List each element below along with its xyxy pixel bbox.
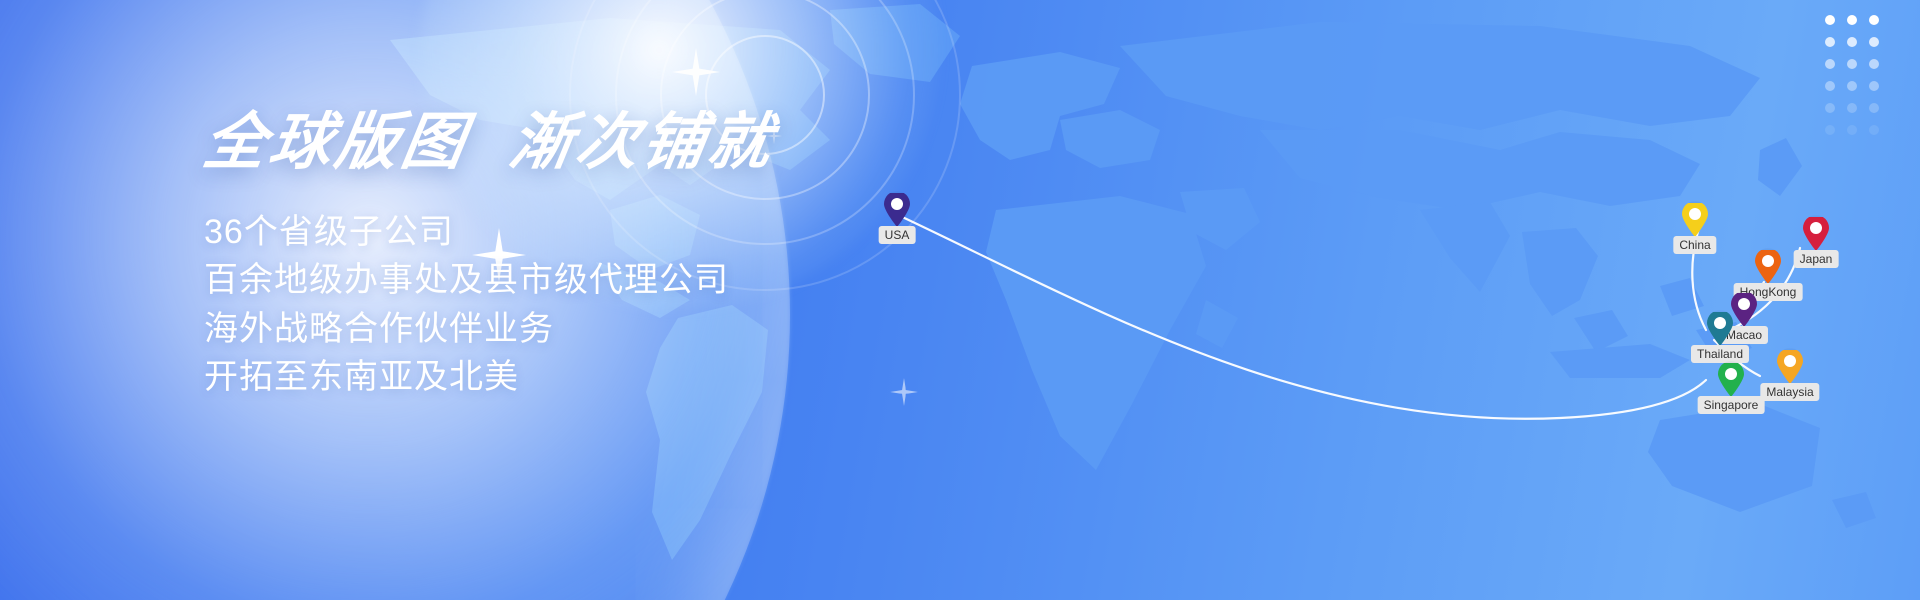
pin-label: USA	[879, 226, 916, 244]
pin-center-dot	[1725, 368, 1737, 380]
pin-center-dot	[891, 198, 903, 210]
map-pin-hongkong[interactable]: HongKong	[1755, 250, 1781, 286]
page-title: 全球版图 渐次铺就	[199, 112, 779, 174]
copy-block: 全球版图 渐次铺就 36个省级子公司 百余地级办事处及县市级代理公司 海外战略合…	[204, 112, 774, 401]
map-pin-singapore[interactable]: Singapore	[1718, 363, 1744, 399]
pin-center-dot	[1689, 208, 1701, 220]
pin-label: Malaysia	[1760, 383, 1819, 401]
map-pin-thailand[interactable]: Thailand	[1707, 312, 1733, 348]
subtitle-line: 海外战略合作伙伴业务	[204, 305, 774, 353]
pin-center-dot	[1784, 355, 1796, 367]
subtitle-line: 开拓至东南亚及北美	[204, 353, 774, 401]
map-pin-usa[interactable]: USA	[884, 193, 910, 229]
pin-center-dot	[1714, 317, 1726, 329]
subtitle-line: 百余地级办事处及县市级代理公司	[204, 256, 774, 304]
pin-center-dot	[1762, 255, 1774, 267]
global-map-banner: 全球版图 渐次铺就 36个省级子公司 百余地级办事处及县市级代理公司 海外战略合…	[0, 0, 1920, 600]
map-pin-macao[interactable]: Macao	[1731, 293, 1757, 329]
pin-label: Singapore	[1698, 396, 1765, 414]
map-pin-malaysia[interactable]: Malaysia	[1777, 350, 1803, 386]
subtitle-line: 36个省级子公司	[204, 208, 774, 256]
pin-label: Japan	[1794, 250, 1839, 268]
pin-center-dot	[1810, 222, 1822, 234]
pin-label: China	[1673, 236, 1716, 254]
pin-label: Thailand	[1691, 345, 1749, 363]
map-pin-japan[interactable]: Japan	[1803, 217, 1829, 253]
map-pin-china[interactable]: China	[1682, 203, 1708, 239]
pin-center-dot	[1738, 298, 1750, 310]
subtitle-list: 36个省级子公司 百余地级办事处及县市级代理公司 海外战略合作伙伴业务 开拓至东…	[204, 208, 774, 401]
